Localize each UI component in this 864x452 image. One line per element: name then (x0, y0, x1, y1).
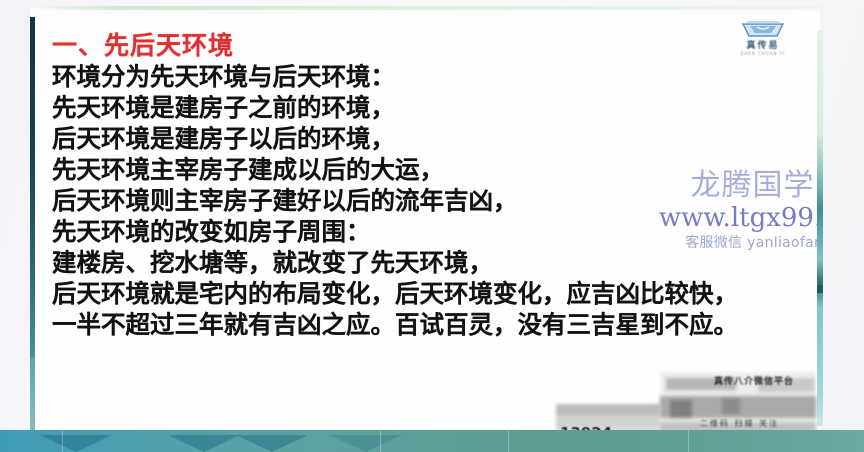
bottom-decorative-band (0, 430, 864, 452)
vertical-progress-bar[interactable] (817, 30, 823, 426)
publisher-logo: 真传易 ZHEN CHUAN YI (734, 20, 792, 60)
body-line: 后天环境是建房子以后的环境， (52, 123, 812, 154)
publisher-crest-icon (740, 20, 786, 40)
body-line: 先天环境的改变如房子周围： (52, 216, 812, 247)
body-line: 先天环境是建房子之前的环境， (52, 92, 812, 123)
band-seam (508, 430, 509, 452)
slide-body: 环境分为先天环境与后天环境： 先天环境是建房子之前的环境， 后天环境是建房子以后… (52, 61, 812, 340)
censored-card-line: 二维码 扫描 关注 (700, 418, 779, 429)
censored-row (670, 400, 692, 418)
band-chevron (40, 435, 112, 452)
slide-screenshot: 一、先后天环境 环境分为先天环境与后天环境： 先天环境是建房子之前的环境， 后天… (0, 0, 864, 452)
publisher-wordmark: 真传易 (734, 41, 792, 51)
band-chevron (168, 435, 240, 452)
body-line: 后天环境就是宅内的布局变化，后天环境变化，应吉凶比较快， (52, 278, 812, 309)
body-line: 一半不超过三年就有吉凶之应。百试百灵，没有三吉星到不应。 (52, 309, 812, 340)
slide-heading: 一、先后天环境 (52, 26, 234, 62)
band-chevron (330, 435, 402, 452)
vertical-progress-bar-knob[interactable] (817, 285, 823, 293)
body-line: 先天环境主宰房子建成以后的大运， (52, 154, 812, 185)
band-seam (62, 430, 63, 452)
censored-row (722, 398, 740, 414)
band-seam (688, 430, 689, 452)
band-chevron (236, 435, 308, 452)
body-line: 后天环境则主宰房子建好以后的流年吉凶， (52, 185, 812, 216)
band-seam (380, 430, 381, 452)
publisher-subtext: ZHEN CHUAN YI (734, 51, 792, 56)
censored-card-title: 真传八介微信平台 (714, 374, 794, 387)
body-line: 环境分为先天环境与后天环境： (52, 61, 812, 92)
body-line: 建楼房、挖水塘等，就改变了先天环境， (52, 247, 812, 278)
